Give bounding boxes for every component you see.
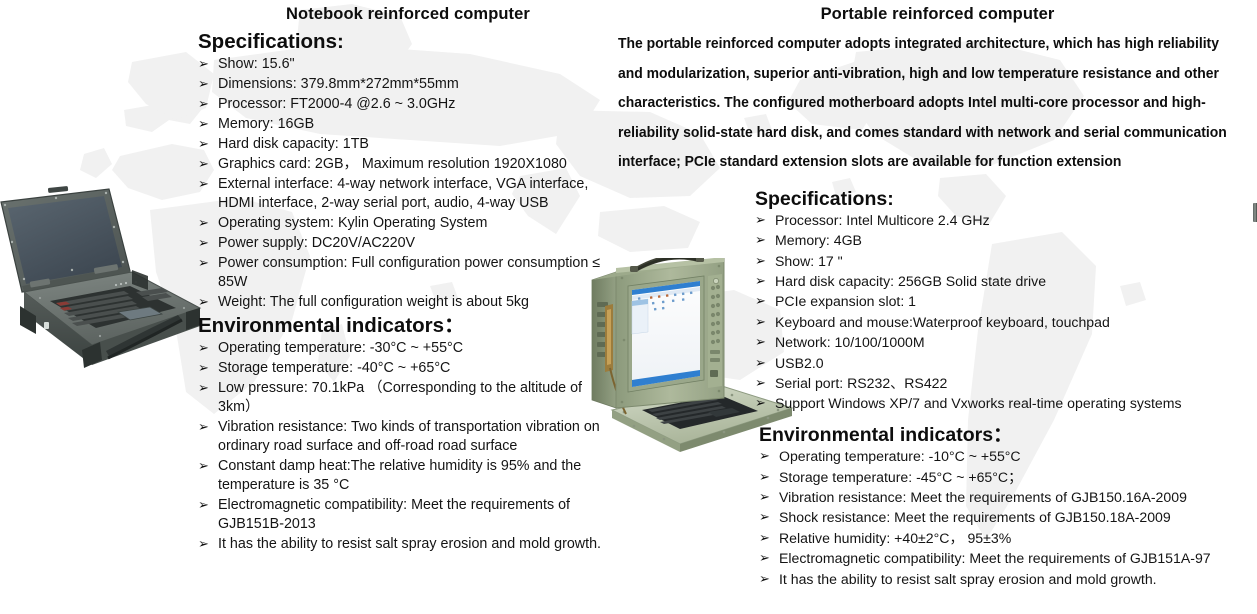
arrow-bullet-icon: ➢	[759, 447, 770, 466]
list-item-text: Serial port: RS232、RS422	[775, 375, 947, 391]
list-item-text: It has the ability to resist salt spray …	[779, 571, 1157, 587]
list-item-text: Vibration resistance: Two kinds of trans…	[218, 419, 600, 454]
list-item: ➢Shock resistance: Meet the requirements…	[759, 508, 1257, 527]
list-item-text: Support Windows XP/7 and Vxworks real-ti…	[775, 395, 1182, 411]
arrow-bullet-icon: ➢	[755, 252, 766, 271]
arrow-bullet-icon: ➢	[755, 333, 766, 352]
arrow-bullet-icon: ➢	[198, 95, 209, 114]
rugged-notebook-computer-photo	[0, 182, 202, 386]
list-item: ➢Keyboard and mouse:Waterproof keyboard,…	[755, 313, 1257, 332]
list-item: ➢Serial port: RS232、RS422	[755, 374, 1257, 393]
list-item: ➢Relative humidity: +40±2°C， 95±3%	[759, 529, 1257, 548]
arrow-bullet-icon: ➢	[759, 549, 770, 568]
arrow-bullet-icon: ➢	[755, 313, 766, 332]
list-item-text: Memory: 16GB	[218, 116, 314, 132]
intro-line: reliability solid-state hard disk, and c…	[618, 119, 1228, 149]
portable-intro-paragraph: The portable reinforced computer adopts …	[618, 30, 1257, 178]
list-item: ➢Network: 10/100/1000M	[755, 333, 1257, 352]
intro-line: characteristics. The configured motherbo…	[618, 89, 1228, 119]
list-item: ➢It has the ability to resist salt spray…	[198, 535, 618, 554]
list-item-text: External interface: 4-way network interf…	[218, 176, 588, 211]
list-item: ➢Weight: The full configuration weight i…	[198, 293, 618, 312]
intro-line: interface; PCIe standard extension slots…	[618, 148, 1228, 178]
arrow-bullet-icon: ➢	[198, 234, 209, 253]
arrow-bullet-icon: ➢	[198, 418, 209, 437]
arrow-bullet-icon: ➢	[198, 135, 209, 154]
list-item-text: Relative humidity: +40±2°C， 95±3%	[779, 530, 1011, 546]
list-item-text: Network: 10/100/1000M	[775, 334, 925, 350]
list-item-text: Hard disk capacity: 256GB Solid state dr…	[775, 273, 1046, 289]
arrow-bullet-icon: ➢	[198, 254, 209, 273]
arrow-bullet-icon: ➢	[198, 535, 209, 554]
list-item: ➢It has the ability to resist salt spray…	[759, 570, 1257, 589]
left-environmental-heading: Environmental indicators：	[198, 314, 618, 338]
list-item-text: Operating temperature: -30°C ~ +55°C	[218, 340, 463, 356]
list-item: ➢Constant damp heat:The relative humidit…	[198, 457, 618, 495]
arrow-bullet-icon: ➢	[198, 214, 209, 233]
list-item: ➢Dimensions: 379.8mm*272mm*55mm	[198, 75, 618, 94]
right-environmental-list: ➢Operating temperature: -10°C ~ +55°C ➢S…	[759, 447, 1257, 589]
list-item-text: Storage temperature: -45°C ~ +65°C；	[779, 469, 1022, 485]
list-item-text: Show: 17 "	[775, 253, 843, 269]
list-item: ➢USB2.0	[755, 354, 1257, 373]
list-item-text: Hard disk capacity: 1TB	[218, 136, 369, 152]
list-item: ➢Vibration resistance: Meet the requirem…	[759, 488, 1257, 507]
left-environmental-list: ➢Operating temperature: -30°C ~ +55°C ➢S…	[198, 339, 618, 554]
arrow-bullet-icon: ➢	[198, 457, 209, 476]
list-item: ➢Storage temperature: -45°C ~ +65°C；	[759, 468, 1257, 487]
arrow-bullet-icon: ➢	[759, 488, 770, 507]
arrow-bullet-icon: ➢	[755, 211, 766, 230]
list-item-text: Memory: 4GB	[775, 232, 862, 248]
list-item: ➢Memory: 16GB	[198, 115, 618, 134]
left-specifications-heading: Specifications:	[198, 30, 618, 54]
list-item-text: Power supply: DC20V/AC220V	[218, 235, 415, 251]
arrow-bullet-icon: ➢	[755, 374, 766, 393]
list-item-text: PCIe expansion slot: 1	[775, 293, 916, 309]
intro-line: and modularization, superior anti-vibrat…	[618, 60, 1228, 90]
arrow-bullet-icon: ➢	[755, 354, 766, 373]
arrow-bullet-icon: ➢	[759, 508, 770, 527]
arrow-bullet-icon: ➢	[198, 75, 209, 94]
list-item: ➢Processor: Intel Multicore 2.4 GHz	[755, 211, 1257, 230]
list-item-text: Storage temperature: -40°C ~ +65°C	[218, 360, 450, 376]
left-product-column: Notebook reinforced computer Specificati…	[198, 0, 618, 555]
list-item: ➢External interface: 4-way network inter…	[198, 175, 618, 213]
arrow-bullet-icon: ➢	[759, 468, 770, 487]
left-column-title: Notebook reinforced computer	[198, 5, 618, 24]
list-item: ➢Operating temperature: -30°C ~ +55°C	[198, 339, 618, 358]
list-item: ➢Electromagnetic compatibility: Meet the…	[759, 549, 1257, 568]
list-item: ➢Electromagnetic compatibility: Meet the…	[198, 496, 618, 534]
arrow-bullet-icon: ➢	[759, 570, 770, 589]
right-column-title: Portable reinforced computer	[618, 5, 1257, 24]
list-item: ➢Show: 17 "	[755, 252, 1257, 271]
arrow-bullet-icon: ➢	[755, 394, 766, 413]
list-item-text: Keyboard and mouse:Waterproof keyboard, …	[775, 314, 1110, 330]
list-item-text: Operating temperature: -10°C ~ +55°C	[779, 448, 1021, 464]
intro-line: The portable reinforced computer adopts …	[618, 30, 1228, 60]
list-item: ➢Power supply: DC20V/AC220V	[198, 234, 618, 253]
arrow-bullet-icon: ➢	[198, 55, 209, 74]
right-specifications-list: ➢Processor: Intel Multicore 2.4 GHz ➢Mem…	[755, 211, 1257, 414]
list-item-text: Dimensions: 379.8mm*272mm*55mm	[218, 76, 459, 92]
list-item: ➢Power consumption: Full configuration p…	[198, 254, 618, 292]
list-item: ➢Show: 15.6"	[198, 55, 618, 74]
list-item-text: Low pressure: 70.1kPa （Corresponding to …	[218, 380, 582, 415]
list-item-text: Electromagnetic compatibility: Meet the …	[779, 550, 1211, 566]
arrow-bullet-icon: ➢	[198, 115, 209, 134]
list-item: ➢PCIe expansion slot: 1	[755, 292, 1257, 311]
left-specifications-list: ➢Show: 15.6" ➢Dimensions: 379.8mm*272mm*…	[198, 55, 618, 313]
list-item-text: Show: 15.6"	[218, 56, 295, 72]
list-item: ➢Low pressure: 70.1kPa （Corresponding to…	[198, 379, 618, 417]
list-item: ➢Memory: 4GB	[755, 231, 1257, 250]
arrow-bullet-icon: ➢	[198, 379, 209, 398]
list-item: ➢Storage temperature: -40°C ~ +65°C	[198, 359, 618, 378]
arrow-bullet-icon: ➢	[198, 339, 209, 358]
list-item: ➢Support Windows XP/7 and Vxworks real-t…	[755, 394, 1257, 413]
list-item-text: Weight: The full configuration weight is…	[218, 294, 529, 310]
list-item-text: USB2.0	[775, 355, 824, 371]
arrow-bullet-icon: ➢	[198, 293, 209, 312]
right-environmental-heading: Environmental indicators：	[759, 424, 1257, 446]
list-item: ➢Operating system: Kylin Operating Syste…	[198, 214, 618, 233]
list-item: ➢Vibration resistance: Two kinds of tran…	[198, 418, 618, 456]
arrow-bullet-icon: ➢	[198, 155, 209, 174]
list-item-text: Power consumption: Full configuration po…	[218, 255, 600, 290]
list-item: ➢Processor: FT2000-4 @2.6 ~ 3.0GHz	[198, 95, 618, 114]
arrow-bullet-icon: ➢	[755, 272, 766, 291]
arrow-bullet-icon: ➢	[198, 359, 209, 378]
list-item-text: Processor: FT2000-4 @2.6 ~ 3.0GHz	[218, 96, 455, 112]
list-item-text: Graphics card: 2GB， Maximum resolution 1…	[218, 156, 567, 172]
list-item-text: It has the ability to resist salt spray …	[218, 536, 601, 552]
arrow-bullet-icon: ➢	[198, 496, 209, 515]
right-specifications-heading: Specifications:	[755, 188, 1257, 210]
list-item-text: Operating system: Kylin Operating System	[218, 215, 487, 231]
arrow-bullet-icon: ➢	[755, 292, 766, 311]
right-product-column: Portable reinforced computer The portabl…	[618, 0, 1257, 590]
list-item-text: Vibration resistance: Meet the requireme…	[779, 489, 1187, 505]
list-item: ➢Graphics card: 2GB， Maximum resolution …	[198, 155, 618, 174]
list-item-text: Processor: Intel Multicore 2.4 GHz	[775, 212, 990, 228]
list-item: ➢Hard disk capacity: 256GB Solid state d…	[755, 272, 1257, 291]
list-item: ➢Operating temperature: -10°C ~ +55°C	[759, 447, 1257, 466]
arrow-bullet-icon: ➢	[198, 175, 209, 194]
arrow-bullet-icon: ➢	[759, 529, 770, 548]
list-item-text: Shock resistance: Meet the requirements …	[779, 509, 1171, 525]
list-item: ➢Hard disk capacity: 1TB	[198, 135, 618, 154]
list-item-text: Electromagnetic compatibility: Meet the …	[218, 497, 570, 532]
list-item-text: Constant damp heat:The relative humidity…	[218, 458, 581, 493]
arrow-bullet-icon: ➢	[755, 231, 766, 250]
